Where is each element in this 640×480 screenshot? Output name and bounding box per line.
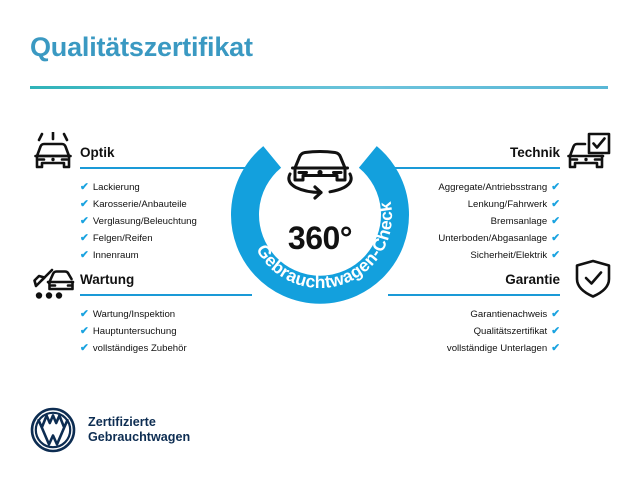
- footer-line-2: Gebrauchtwagen: [88, 430, 190, 446]
- list-item-label: Felgen/Reifen: [93, 233, 153, 244]
- car-checkbox-icon: [566, 132, 612, 174]
- section-list-technik: Aggregate/Antriebsstrang✔ Lenkung/Fahrwe…: [388, 179, 560, 264]
- list-item-label: Garantienachweis: [470, 309, 547, 320]
- check-icon: ✔: [551, 340, 560, 356]
- section-list-optik: ✔Lackierung ✔Karosserie/Anbauteile ✔Verg…: [80, 179, 252, 264]
- check-icon: ✔: [80, 247, 89, 263]
- list-item: ✔Karosserie/Anbauteile: [80, 196, 252, 213]
- footer-line-1: Zertifizierte: [88, 415, 190, 431]
- check-icon: ✔: [80, 323, 89, 339]
- section-optik: Optik ✔Lackierung ✔Karosserie/Anbauteile…: [80, 146, 252, 264]
- certificate-page: Qualitätszertifikat Optik ✔Lackierung ✔K…: [0, 0, 640, 480]
- section-heading-technik: Technik: [388, 146, 560, 160]
- list-item-label: Sicherheit/Elektrik: [470, 250, 547, 261]
- list-item-label: Qualitätszertifikat: [474, 326, 548, 337]
- footer-brand: Zertifizierte Gebrauchtwagen: [30, 407, 190, 453]
- section-heading-garantie: Garantie: [388, 273, 560, 287]
- list-item-label: Hauptuntersuchung: [93, 326, 177, 337]
- list-item: ✔Lackierung: [80, 179, 252, 196]
- list-item: ✔Innenraum: [80, 247, 252, 264]
- check-icon: ✔: [551, 179, 560, 195]
- page-title: Qualitätszertifikat: [30, 32, 253, 63]
- list-item: Lenkung/Fahrwerk✔: [388, 196, 560, 213]
- check-icon: ✔: [551, 196, 560, 212]
- list-item: ✔Verglasung/Beleuchtung: [80, 213, 252, 230]
- check-icon: ✔: [551, 323, 560, 339]
- check-icon: ✔: [80, 179, 89, 195]
- car-shine-icon: [30, 132, 76, 174]
- check-icon: ✔: [80, 306, 89, 322]
- list-item: ✔Felgen/Reifen: [80, 230, 252, 247]
- list-item: Bremsanlage✔: [388, 213, 560, 230]
- check-icon: ✔: [80, 196, 89, 212]
- list-item-label: Unterboden/Abgasanlage: [438, 233, 547, 244]
- section-heading-optik: Optik: [80, 146, 252, 160]
- section-garantie: Garantie Garantienachweis✔ Qualitätszert…: [388, 273, 560, 357]
- section-list-garantie: Garantienachweis✔ Qualitätszertifikat✔ v…: [388, 306, 560, 357]
- list-item: Qualitätszertifikat✔: [388, 323, 560, 340]
- list-item: Garantienachweis✔: [388, 306, 560, 323]
- list-item-label: Verglasung/Beleuchtung: [93, 216, 197, 227]
- section-rule-wartung: [80, 294, 252, 296]
- list-item-label: Lackierung: [93, 182, 140, 193]
- car-rotate-icon: [289, 152, 351, 199]
- list-item-label: vollständiges Zubehör: [93, 343, 187, 354]
- check-icon: ✔: [551, 306, 560, 322]
- section-technik: Technik Aggregate/Antriebsstrang✔ Lenkun…: [388, 146, 560, 264]
- list-item-label: Karosserie/Anbauteile: [93, 199, 187, 210]
- volkswagen-logo: [30, 407, 76, 453]
- check-icon: ✔: [80, 340, 89, 356]
- list-item: vollständige Unterlagen✔: [388, 340, 560, 357]
- car-service-pencil-icon: [30, 260, 76, 302]
- section-heading-wartung: Wartung: [80, 273, 252, 287]
- list-item: Aggregate/Antriebsstrang✔: [388, 179, 560, 196]
- list-item-label: vollständige Unterlagen: [447, 343, 547, 354]
- section-list-wartung: ✔Wartung/Inspektion ✔Hauptuntersuchung ✔…: [80, 306, 252, 357]
- list-item-label: Aggregate/Antriebsstrang: [438, 182, 547, 193]
- list-item: ✔Hauptuntersuchung: [80, 323, 252, 340]
- shield-check-icon: [570, 258, 616, 300]
- list-item: Sicherheit/Elektrik✔: [388, 247, 560, 264]
- title-divider: [30, 86, 608, 89]
- list-item: ✔Wartung/Inspektion: [80, 306, 252, 323]
- list-item-label: Lenkung/Fahrwerk: [468, 199, 547, 210]
- footer-text: Zertifizierte Gebrauchtwagen: [88, 415, 190, 446]
- list-item-label: Wartung/Inspektion: [93, 309, 175, 320]
- list-item-label: Innenraum: [93, 250, 139, 261]
- badge-degrees: 360°: [228, 220, 412, 257]
- section-rule-optik: [80, 167, 252, 169]
- list-item: ✔vollständiges Zubehör: [80, 340, 252, 357]
- section-rule-garantie: [388, 294, 560, 296]
- list-item: Unterboden/Abgasanlage✔: [388, 230, 560, 247]
- check-icon: ✔: [551, 213, 560, 229]
- section-wartung: Wartung ✔Wartung/Inspektion ✔Hauptunters…: [80, 273, 252, 357]
- check-icon: ✔: [80, 213, 89, 229]
- check-icon: ✔: [80, 230, 89, 246]
- section-rule-technik: [388, 167, 560, 169]
- check-icon: ✔: [551, 247, 560, 263]
- badge-360-gebrauchtwagen-check: Gebrauchtwagen-Check 360°: [228, 124, 412, 308]
- list-item-label: Bremsanlage: [491, 216, 548, 227]
- check-icon: ✔: [551, 230, 560, 246]
